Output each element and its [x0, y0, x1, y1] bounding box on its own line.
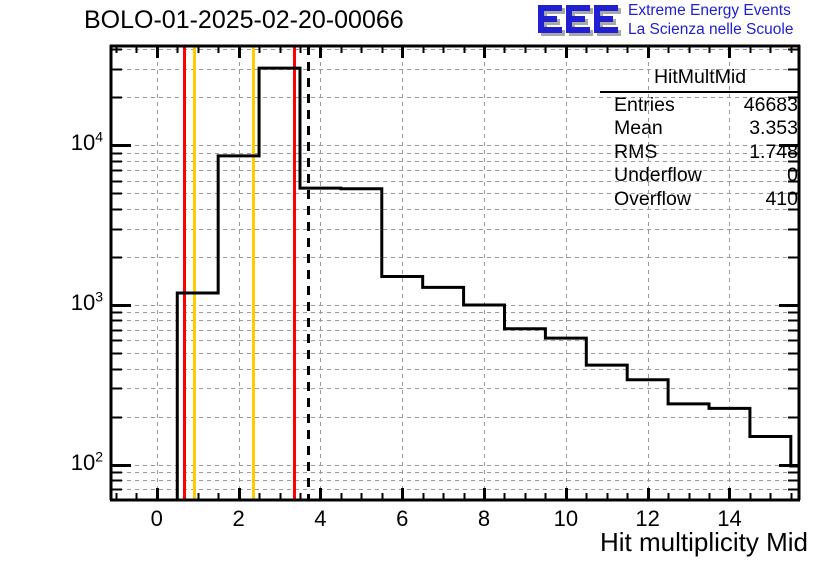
x-tick-label-4: 4 — [290, 506, 350, 532]
plot-canvas: BOLO-01-2025-02-20-00066 — [0, 0, 836, 572]
stats-key: RMS — [614, 141, 657, 165]
stats-row: Overflow410 — [600, 188, 800, 212]
stats-title: HitMultMid — [600, 66, 800, 93]
y-tick-label-1e3: 103 — [71, 290, 103, 316]
x-tick-label-0: 0 — [127, 506, 187, 532]
stats-box: HitMultMid Entries46683Mean3.353RMS1.748… — [600, 66, 800, 211]
x-tick-label-6: 6 — [372, 506, 432, 532]
x-tick-label-10: 10 — [536, 506, 596, 532]
stats-value: 1.748 — [749, 141, 798, 165]
y-tick-label-1e4: 104 — [71, 130, 103, 156]
stats-value: 3.353 — [749, 117, 798, 141]
stats-value: 46683 — [744, 94, 798, 118]
stats-key: Underflow — [614, 164, 702, 188]
stats-row: Underflow0 — [600, 164, 800, 188]
y-tick-label-1e2: 102 — [71, 450, 103, 476]
stats-row: RMS1.748 — [600, 141, 800, 165]
stats-key: Entries — [614, 94, 675, 118]
x-tick-label-2: 2 — [209, 506, 269, 532]
x-tick-label-8: 8 — [454, 506, 514, 532]
threshold-lines — [185, 46, 309, 500]
stats-row: Entries46683 — [600, 94, 800, 118]
stats-key: Mean — [614, 117, 663, 141]
stats-key: Overflow — [614, 188, 691, 212]
stats-value: 410 — [765, 188, 798, 212]
x-axis-title: Hit multiplicity Mid — [600, 527, 808, 558]
stats-row: Mean3.353 — [600, 117, 800, 141]
stats-value: 0 — [787, 164, 798, 188]
